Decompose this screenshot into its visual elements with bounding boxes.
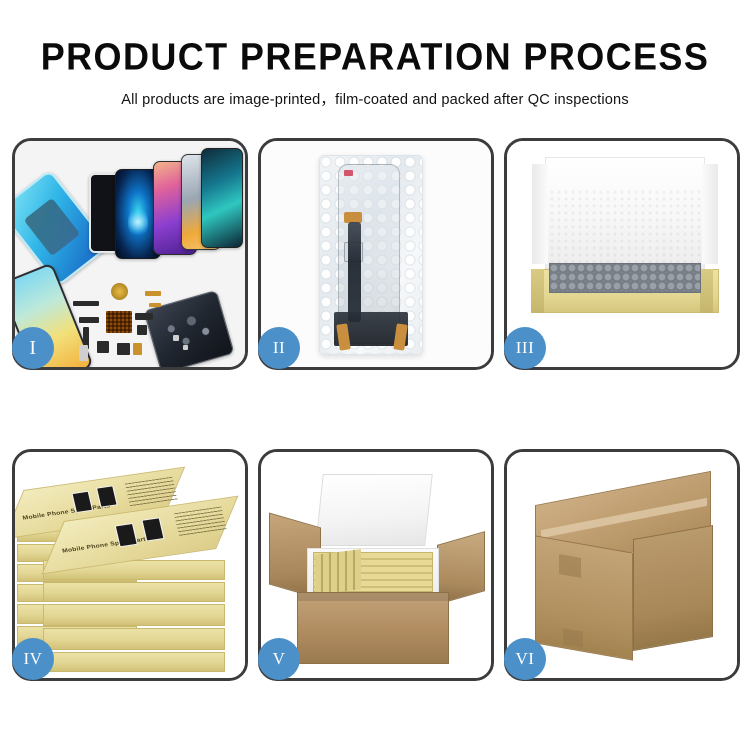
box-lip-left [531, 269, 544, 313]
process-step-6[interactable]: VI [504, 449, 740, 681]
step-badge-4: IV [12, 638, 54, 680]
process-step-grid: I II [12, 138, 739, 681]
foam-box-lid [315, 474, 433, 546]
carton-tape-patch-upper [559, 554, 581, 578]
process-step-4[interactable]: Mobile Phone Spare Parts Mobile Phone Sp… [12, 449, 248, 681]
yellow-boxes-side [315, 549, 361, 595]
phone-screen-teal [201, 148, 243, 248]
step-3-image [507, 141, 737, 367]
carton-front-face [535, 535, 633, 660]
page-subtitle: All products are image-printed，film-coat… [0, 88, 750, 109]
step-badge-2: II [258, 327, 300, 369]
carton-side-face [633, 525, 713, 651]
process-step-1[interactable]: I [12, 138, 248, 370]
box-stack: Mobile Phone Spare Parts Mobile Phone Sp… [15, 452, 245, 678]
flex-cable [348, 222, 361, 322]
page-title: PRODUCT PREPARATION PROCESS [0, 37, 750, 78]
bubble-wrapped-contents [549, 263, 701, 293]
label-sticker [344, 170, 353, 176]
step-4-image: Mobile Phone Spare Parts Mobile Phone Sp… [15, 452, 245, 678]
step-badge-5: V [258, 638, 300, 680]
carton-body [297, 592, 449, 664]
step-6-image [507, 452, 737, 678]
step-5-image [261, 452, 491, 678]
box-lip-right [700, 269, 713, 313]
process-step-3[interactable]: III [504, 138, 740, 370]
header: PRODUCT PREPARATION PROCESS All products… [0, 0, 750, 109]
process-step-2[interactable]: II [258, 138, 494, 370]
product-preparation-infographic: PRODUCT PREPARATION PROCESS All products… [0, 0, 750, 750]
box-label-text-2: Mobile Phone Spare Parts [62, 536, 151, 555]
step-badge-6: VI [504, 638, 546, 680]
spare-parts-cluster [73, 283, 193, 367]
foam-texture [549, 189, 701, 267]
step-1-image [15, 141, 245, 367]
step-badge-1: I [12, 327, 54, 369]
carton-tape-patch-lower [563, 628, 583, 648]
flex-tab-right [393, 323, 408, 350]
step-badge-3: III [504, 327, 546, 369]
bubble-wrap-bag [319, 155, 423, 355]
process-step-5[interactable]: V [258, 449, 494, 681]
step-2-image [261, 141, 491, 367]
